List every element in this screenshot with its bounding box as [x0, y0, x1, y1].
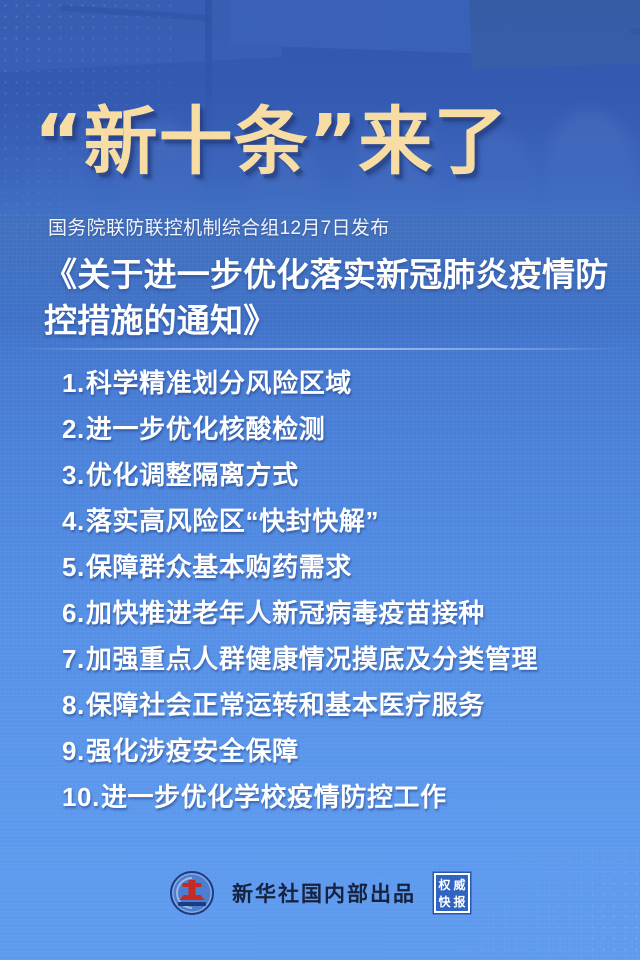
measure-number: 1.	[62, 360, 85, 406]
measure-item: 9.强化涉疫安全保障	[0, 728, 640, 774]
section-divider	[10, 348, 630, 350]
measure-number: 4.	[62, 498, 85, 544]
measure-text: 落实高风险区“快封快解”	[86, 506, 379, 536]
measures-list: 1.科学精准划分风险区域2.进一步优化核酸检测3.优化调整隔离方式4.落实高风险…	[0, 360, 640, 820]
measure-item: 4.落实高风险区“快封快解”	[0, 498, 640, 544]
measure-number: 5.	[62, 544, 85, 590]
poster-root: “新十条”来了 国务院联防联控机制综合组12月7日发布 《关于进一步优化落实新冠…	[0, 0, 640, 960]
measure-text: 科学精准划分风险区域	[86, 368, 352, 398]
measure-text: 进一步优化学校疫情防控工作	[101, 782, 447, 812]
producer-credit: 新华社国内部出品	[232, 878, 416, 908]
measure-item: 8.保障社会正常运转和基本医疗服务	[0, 682, 640, 728]
stamp-char: 权	[438, 879, 450, 891]
measure-item: 6.加快推进老年人新冠病毒疫苗接种	[0, 590, 640, 636]
measure-text: 加强重点人群健康情况摸底及分类管理	[86, 644, 538, 674]
measure-number: 3.	[62, 452, 85, 498]
measure-item: 1.科学精准划分风险区域	[0, 360, 640, 406]
measure-item: 5.保障群众基本购药需求	[0, 544, 640, 590]
measure-text: 进一步优化核酸检测	[86, 414, 325, 444]
measure-number: 9.	[62, 728, 85, 774]
measure-number: 8.	[62, 682, 85, 728]
xinhua-logo-icon	[170, 871, 214, 915]
measure-number: 6.	[62, 590, 85, 636]
issuer-line: 国务院联防联控机制综合组12月7日发布	[48, 218, 389, 241]
measure-item: 3.优化调整隔离方式	[0, 452, 640, 498]
footer: 新华社国内部出品 权威快报	[0, 866, 640, 920]
measure-text: 优化调整隔离方式	[86, 460, 299, 490]
measure-text: 加快推进老年人新冠病毒疫苗接种	[86, 598, 485, 628]
measure-item: 10.进一步优化学校疫情防控工作	[0, 774, 640, 820]
measure-item: 2.进一步优化核酸检测	[0, 406, 640, 452]
stamp-char: 报	[453, 896, 465, 908]
stamp-char: 快	[438, 896, 450, 908]
measure-item: 7.加强重点人群健康情况摸底及分类管理	[0, 636, 640, 682]
measure-number: 7.	[62, 636, 85, 682]
logo-base	[178, 902, 206, 906]
document-title: 《关于进一步优化落实新冠肺炎疫情防控措施的通知》	[44, 252, 624, 343]
measure-text: 强化涉疫安全保障	[86, 736, 299, 766]
stamp-char: 威	[453, 879, 465, 891]
measure-text: 保障社会正常运转和基本医疗服务	[86, 690, 485, 720]
measure-number: 2.	[62, 406, 85, 452]
authority-stamp-icon: 权威快报	[434, 873, 470, 913]
measure-number: 10.	[62, 774, 100, 820]
measure-text: 保障群众基本购药需求	[86, 552, 352, 582]
logo-tower	[189, 880, 196, 899]
main-title: “新十条”来了	[34, 105, 614, 179]
